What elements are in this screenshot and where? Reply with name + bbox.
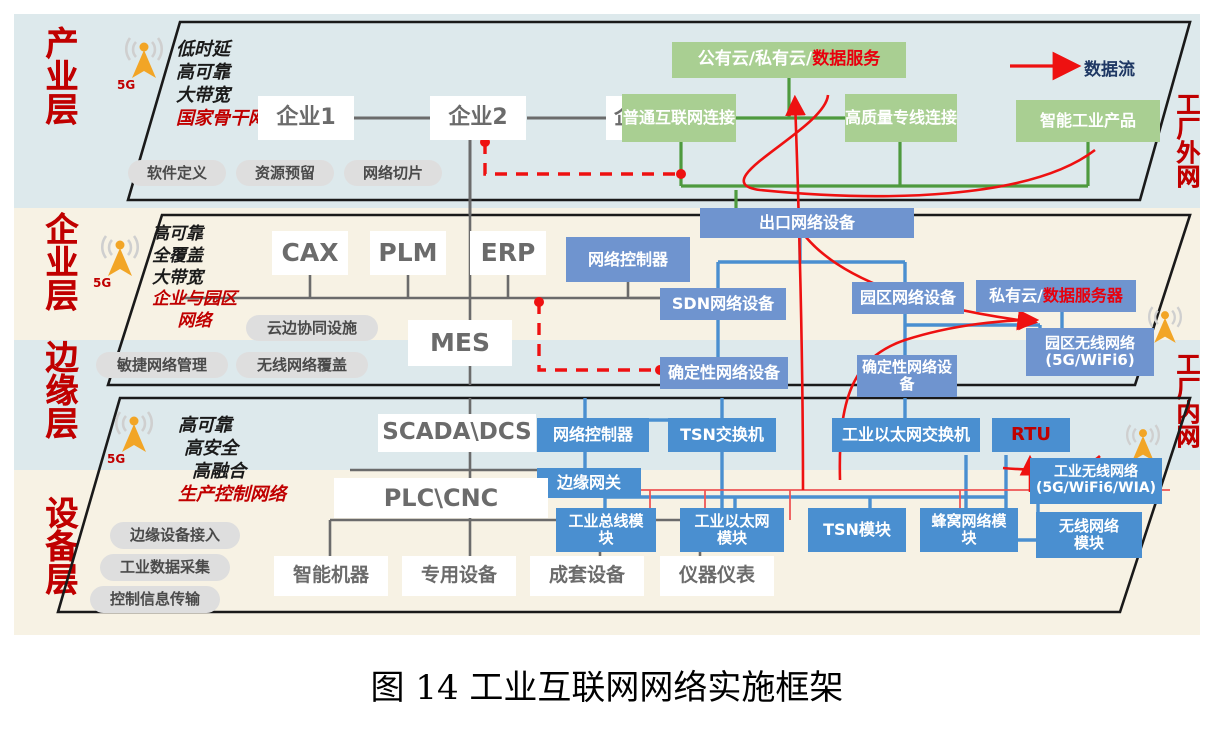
campus-network-device[interactable]: 园区网络设备 (852, 282, 964, 314)
cloud-label-a: 公有云/私有云/ (698, 50, 812, 69)
campus-wireless-line1: 园区无线网络 (1045, 335, 1135, 352)
bus-module-line2: 块 (598, 530, 613, 547)
descriptor-line: 高安全 (184, 437, 286, 460)
legend-label: 数据流 (1084, 55, 1135, 80)
descriptor-enterprise: 高可靠 全覆盖 大带宽 企业与园区 网络 (152, 224, 237, 333)
sdn-network-device[interactable]: SDN网络设备 (660, 288, 786, 320)
tower-industry: 5G (116, 30, 172, 90)
figure-caption: 图 14 工业互联网网络实施框架 (0, 660, 1214, 709)
industrial-bus-module[interactable]: 工业总线模 块 (556, 508, 656, 552)
det-right-line1: 确定性网络设备 (857, 359, 957, 393)
scada-dcs[interactable]: SCADA\DCS (378, 414, 536, 452)
network-controller-enterprise[interactable]: 网络控制器 (566, 237, 690, 282)
campus-wireless-line2: (5G/WiFi6) (1045, 352, 1134, 369)
normal-internet-connection[interactable]: 普通互联网连接 (622, 94, 736, 142)
smart-machine[interactable]: 智能机器 (274, 556, 388, 596)
public-private-cloud[interactable]: 公有云/私有云/数据服务 (672, 42, 906, 78)
privcloud-label-b: 数据服务器 (1043, 287, 1123, 305)
descriptor-line: 高可靠 (152, 224, 237, 246)
mes[interactable]: MES (408, 320, 512, 366)
tower-edge: 5G (106, 404, 162, 464)
tsn-module[interactable]: TSN模块 (808, 508, 906, 552)
tower-badge: 5G (93, 276, 111, 290)
descriptor-line: 高可靠 (176, 61, 284, 84)
eth-module-line2: 模块 (717, 530, 747, 547)
descriptor-line: 低时延 (176, 38, 284, 61)
industrial-ethernet-switch[interactable]: 工业以太网交换机 (832, 418, 980, 452)
pill-industrial-data-collect[interactable]: 工业数据采集 (100, 554, 230, 581)
layer-label-edge: 边缘层 (22, 340, 76, 439)
deterministic-network-device-right[interactable]: 确定性网络设备 (857, 355, 957, 397)
layer-label-device: 设备层 (22, 496, 76, 595)
complete-equipment[interactable]: 成套设备 (530, 556, 644, 596)
descriptor-highlight-2: 网络 (152, 311, 237, 333)
pill-control-info-transmit[interactable]: 控制信息传输 (90, 586, 220, 613)
layer-label-industry: 产业层 (22, 26, 76, 125)
smart-industrial-product[interactable]: 智能工业产品 (1016, 100, 1160, 142)
high-quality-line-connection[interactable]: 高质量专线连接 (845, 94, 957, 142)
descriptor-highlight: 生产控制网络 (178, 483, 286, 506)
cellular-module-line1: 蜂窝网络模 (931, 513, 1006, 530)
industrial-ethernet-module[interactable]: 工业以太网 模块 (680, 508, 784, 552)
private-cloud-data-server[interactable]: 私有云/数据服务器 (976, 280, 1136, 312)
dedicated-equipment[interactable]: 专用设备 (402, 556, 516, 596)
industrial-wireless-network[interactable]: 工业无线网络 (5G/WiFi6/WIA) (1030, 458, 1162, 504)
tsn-switch[interactable]: TSN交换机 (668, 418, 776, 452)
plc-cnc[interactable]: PLC\CNC (334, 478, 548, 518)
plm[interactable]: PLM (370, 231, 446, 275)
campus-wireless-network[interactable]: 园区无线网络 (5G/WiFi6) (1026, 328, 1154, 376)
erp[interactable]: ERP (470, 231, 546, 275)
pill-edge-device-access[interactable]: 边缘设备接入 (110, 522, 240, 549)
descriptor-highlight: 企业与园区 (152, 289, 237, 311)
wireless-network-module[interactable]: 无线网络 模块 (1036, 512, 1142, 558)
side-label-factory-external: 工厂外网 (1168, 92, 1198, 188)
diagram-canvas: 产业层 企业层 边缘层 设备层 工厂外网 工厂内网 (0, 0, 1214, 733)
pill-cloud-edge-collab[interactable]: 云边协同设施 (246, 315, 378, 341)
pill-network-slicing[interactable]: 网络切片 (344, 160, 442, 186)
eth-module-line1: 工业以太网 (694, 513, 769, 530)
ind-wireless-line2: (5G/WiFi6/WIA) (1036, 481, 1156, 497)
privcloud-label-a: 私有云/ (989, 287, 1043, 305)
cloud-label-b: 数据服务 (812, 50, 880, 69)
enterprise-2[interactable]: 企业2 (430, 96, 526, 140)
cellular-module-line2: 块 (961, 530, 976, 547)
wireless-module-line2: 模块 (1074, 535, 1104, 552)
cax[interactable]: CAX (272, 231, 348, 275)
pill-wireless-coverage[interactable]: 无线网络覆盖 (236, 352, 368, 378)
layer-label-enterprise: 企业层 (22, 212, 76, 311)
pill-software-defined[interactable]: 软件定义 (128, 160, 226, 186)
tower-badge: 5G (117, 78, 135, 92)
descriptor-line: 全覆盖 (152, 246, 237, 268)
edge-gateway[interactable]: 边缘网关 (537, 468, 641, 498)
tower-enterprise: 5G (92, 228, 148, 288)
pill-resource-reserve[interactable]: 资源预留 (236, 160, 334, 186)
rtu[interactable]: RTU (992, 418, 1070, 452)
descriptor-line: 高融合 (192, 460, 286, 483)
network-controller-edge[interactable]: 网络控制器 (537, 418, 649, 452)
enterprise-1[interactable]: 企业1 (258, 96, 354, 140)
descriptor-edge: 高可靠 高安全 高融合 生产控制网络 (178, 414, 286, 506)
descriptor-line: 高可靠 (178, 414, 286, 437)
egress-network-device[interactable]: 出口网络设备 (700, 208, 914, 238)
wireless-module-line1: 无线网络 (1059, 518, 1119, 535)
tower-badge: 5G (107, 452, 125, 466)
pill-agile-net-mgmt[interactable]: 敏捷网络管理 (96, 352, 228, 378)
ind-wireless-line1: 工业无线网络 (1054, 465, 1138, 481)
deterministic-network-device-left[interactable]: 确定性网络设备 (660, 357, 788, 389)
instruments[interactable]: 仪器仪表 (660, 556, 774, 596)
bus-module-line1: 工业总线模 (568, 513, 643, 530)
descriptor-line: 大带宽 (152, 268, 237, 290)
cellular-network-module[interactable]: 蜂窝网络模 块 (920, 508, 1018, 552)
